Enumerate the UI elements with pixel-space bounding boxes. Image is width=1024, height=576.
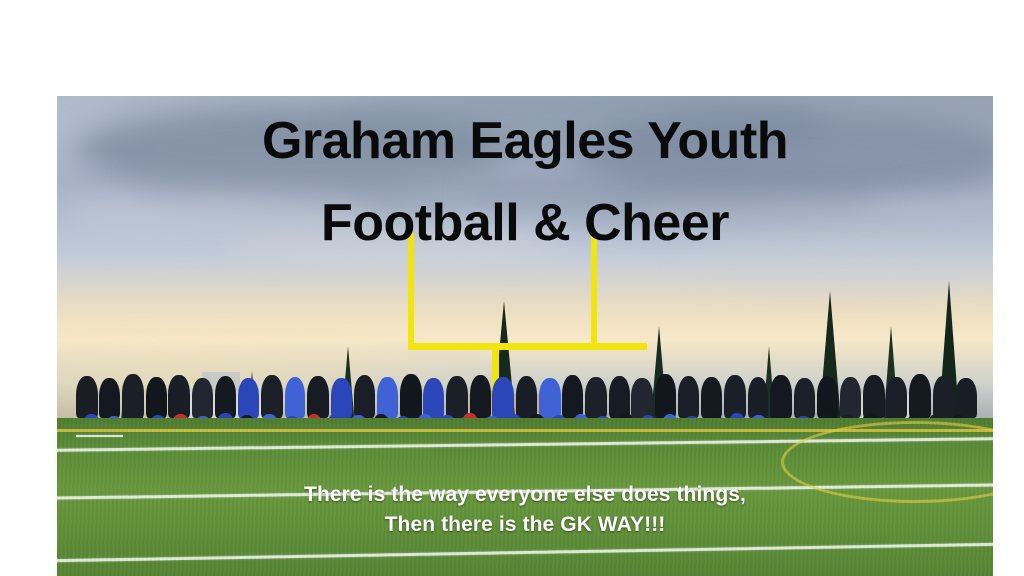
slide-canvas: Graham Eagles Youth Football & Cheer The… <box>0 0 1024 576</box>
yellow-field-line <box>57 429 993 432</box>
caption-line-2: Then there is the GK WAY!!! <box>57 510 993 540</box>
yard-line <box>57 542 993 563</box>
caption-line-1: There is the way everyone else does thin… <box>57 480 993 510</box>
hash-mark <box>76 435 123 437</box>
yard-line <box>57 437 993 452</box>
caption-text: There is the way everyone else does thin… <box>57 480 993 540</box>
goalpost-crossbar <box>408 343 647 350</box>
page-title: Graham Eagles Youth Football & Cheer <box>57 100 993 264</box>
